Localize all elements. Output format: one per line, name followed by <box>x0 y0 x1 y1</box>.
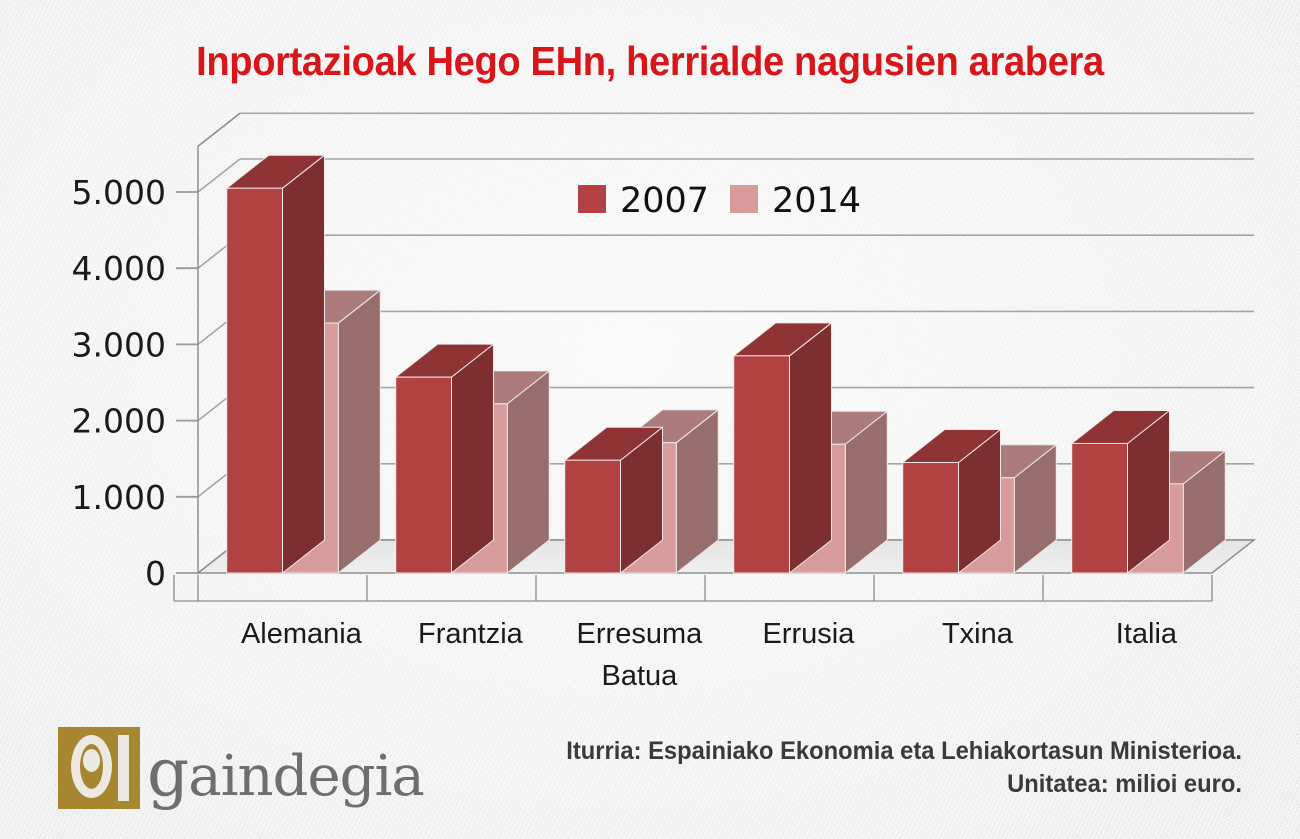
chart-svg: 01.0002.0003.0004.0005.000 AlemaniaFrant… <box>0 0 1300 700</box>
x-axis-tick-label: Alemania <box>241 618 363 650</box>
x-axis-tick-label: Erresuma <box>577 618 704 650</box>
y-axis-tick-label: 5.000 <box>72 173 166 212</box>
bar-alemania-2007 <box>227 155 325 573</box>
source-line: Iturria: Espainiako Ekonomia eta Lehiako… <box>463 735 1242 768</box>
x-axis-tick-label: Frantzia <box>418 618 524 650</box>
logo-eye-icon <box>58 727 140 809</box>
footer-note: Iturria: Espainiako Ekonomia eta Lehiako… <box>463 735 1242 801</box>
bar-txina-2007 <box>903 430 1001 573</box>
x-axis-tick-label: Italia <box>1116 618 1178 650</box>
y-axis: 01.0002.0003.0004.0005.000 <box>72 173 198 593</box>
legend-swatch-2007 <box>578 185 606 213</box>
unit-line: Unitatea: milioi euro. <box>463 768 1242 801</box>
logo-wordmark-rest: aindegia <box>188 744 424 809</box>
y-axis-tick-label: 4.000 <box>72 249 166 288</box>
bar-italia-2007 <box>1072 410 1170 573</box>
y-axis-tick-label: 2.000 <box>72 402 166 441</box>
x-axis-tick-label: Errusia <box>762 618 855 650</box>
gaindegia-logo: gaindegia <box>58 722 424 814</box>
x-axis: AlemaniaFrantziaErresumaBatuaErrusiaTxin… <box>198 575 1212 692</box>
bar-chart: 01.0002.0003.0004.0005.000 AlemaniaFrant… <box>0 0 1300 700</box>
y-axis-tick-label: 1.000 <box>72 478 166 517</box>
x-axis-tick-label: Txina <box>942 618 1014 650</box>
bars-layer <box>227 155 1226 573</box>
x-axis-tick-label: Batua <box>602 660 679 692</box>
y-axis-tick-label: 0 <box>145 554 166 593</box>
bar-errusia-2007 <box>734 323 832 573</box>
bar-frantzia-2007 <box>396 344 494 573</box>
legend-swatch-2014 <box>730 185 758 213</box>
logo-wordmark-lead: g <box>147 734 188 811</box>
legend-label-2014: 2014 <box>772 181 861 221</box>
legend: 20072014 <box>578 181 861 221</box>
legend-label-2007: 2007 <box>620 181 709 221</box>
logo-wordmark: gaindegia <box>147 743 424 802</box>
y-axis-tick-label: 3.000 <box>72 325 166 364</box>
bar-erresuma-batua-2007 <box>565 427 663 573</box>
